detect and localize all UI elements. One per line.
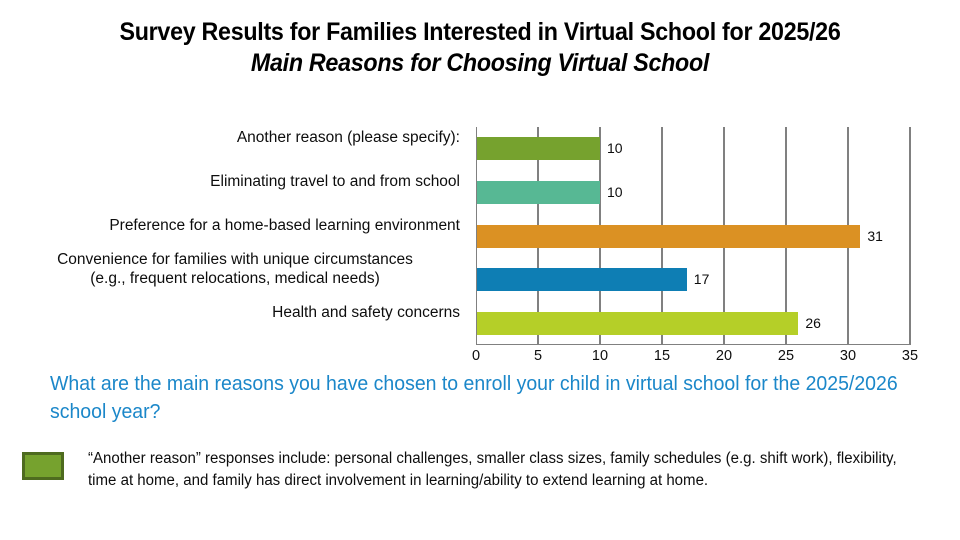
survey-question: What are the main reasons you have chose… <box>50 370 903 425</box>
category-label-line: Convenience for families with unique cir… <box>10 251 460 270</box>
x-tick-label-5: 5 <box>534 348 542 364</box>
category-label-line: Health and safety concerns <box>10 304 460 323</box>
x-tick-label-10: 10 <box>592 348 608 364</box>
plot-area: 1010311726 <box>476 127 910 345</box>
x-tick-label-15: 15 <box>654 348 670 364</box>
x-tick-label-25: 25 <box>778 348 794 364</box>
x-tick-label-20: 20 <box>716 348 732 364</box>
legend-swatch-another-reason <box>22 452 64 480</box>
page-title: Survey Results for Families Interested i… <box>34 18 927 46</box>
category-label-line: Eliminating travel to and from school <box>10 173 460 192</box>
category-label: Health and safety concerns <box>10 304 460 323</box>
category-label: Eliminating travel to and from school <box>10 173 460 192</box>
category-label: Preference for a home-based learning env… <box>10 217 460 236</box>
x-tick-label-35: 35 <box>902 348 918 364</box>
page-subtitle: Main Reasons for Choosing Virtual School <box>34 49 927 78</box>
category-axis-labels: Another reason (please specify):Eliminat… <box>10 118 468 336</box>
x-axis-tick-labels: 05101520253035 <box>476 348 910 370</box>
category-label-line: Another reason (please specify): <box>10 129 460 148</box>
footnote: “Another reason” responses include: pers… <box>22 448 942 492</box>
category-label-line: (e.g., frequent relocations, medical nee… <box>10 270 460 289</box>
axis-lines <box>476 127 910 345</box>
footnote-text: “Another reason” responses include: pers… <box>88 448 903 492</box>
category-label: Another reason (please specify): <box>10 129 460 148</box>
title-block: Survey Results for Families Interested i… <box>0 18 960 78</box>
category-label: Convenience for families with unique cir… <box>10 251 460 289</box>
category-label-line: Preference for a home-based learning env… <box>10 217 460 236</box>
x-tick-label-0: 0 <box>472 348 480 364</box>
bar-chart: Another reason (please specify):Eliminat… <box>0 118 960 363</box>
x-tick-label-30: 30 <box>840 348 856 364</box>
